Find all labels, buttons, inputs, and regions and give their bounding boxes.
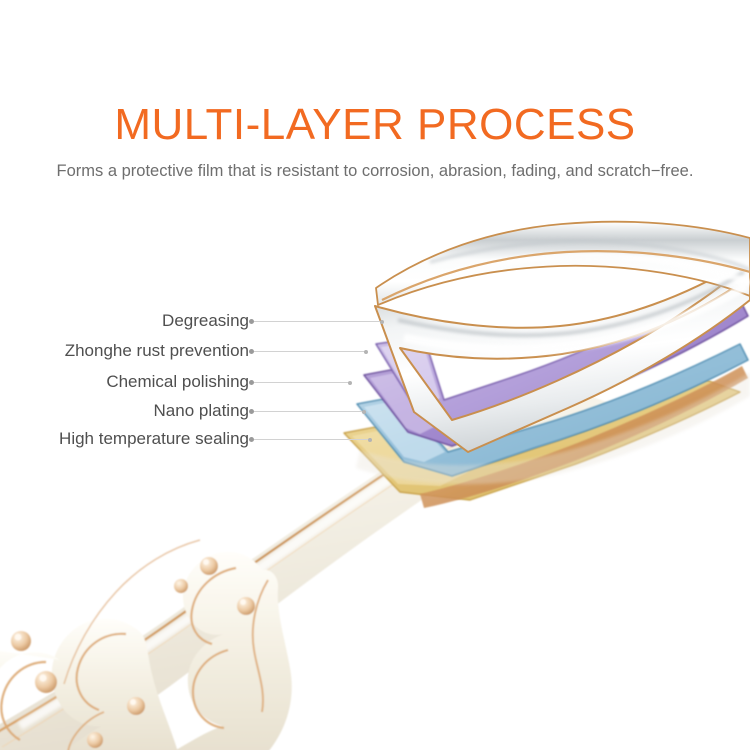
callout-endcap-nano-plating xyxy=(362,410,366,414)
page-subtitle: Forms a protective film that is resistan… xyxy=(0,147,750,181)
callout-chemical-polishing[interactable]: Chemical polishing xyxy=(0,371,249,393)
callout-nano-plating[interactable]: Nano plating xyxy=(0,400,249,422)
page-title: MULTI-LAYER PROCESS xyxy=(0,0,750,147)
callout-label-degreasing: Degreasing xyxy=(162,310,249,332)
callout-line-nano-plating xyxy=(254,411,364,412)
callout-label-high-temperature-sealing: High temperature sealing xyxy=(59,428,249,450)
callout-line-zhonghe-rust-prevention xyxy=(254,351,366,352)
callout-zhonghe-rust-prevention[interactable]: Zhonghe rust prevention xyxy=(0,340,249,362)
callout-high-temperature-sealing[interactable]: High temperature sealing xyxy=(0,428,249,450)
header: MULTI-LAYER PROCESS Forms a protective f… xyxy=(0,0,750,181)
callout-line-chemical-polishing xyxy=(254,382,350,383)
product-infographic: MULTI-LAYER PROCESS Forms a protective f… xyxy=(0,0,750,750)
callout-endcap-chemical-polishing xyxy=(348,381,352,385)
callout-degreasing[interactable]: Degreasing xyxy=(0,310,249,332)
callout-line-degreasing xyxy=(254,321,382,322)
callout-endcap-zhonghe-rust-prevention xyxy=(364,350,368,354)
callout-label-nano-plating: Nano plating xyxy=(154,400,249,422)
callout-endcap-degreasing xyxy=(380,320,384,324)
callout-label-chemical-polishing: Chemical polishing xyxy=(106,371,249,393)
callout-label-zhonghe-rust-prevention: Zhonghe rust prevention xyxy=(65,340,249,362)
callout-line-high-temperature-sealing xyxy=(254,439,370,440)
callout-endcap-high-temperature-sealing xyxy=(368,438,372,442)
